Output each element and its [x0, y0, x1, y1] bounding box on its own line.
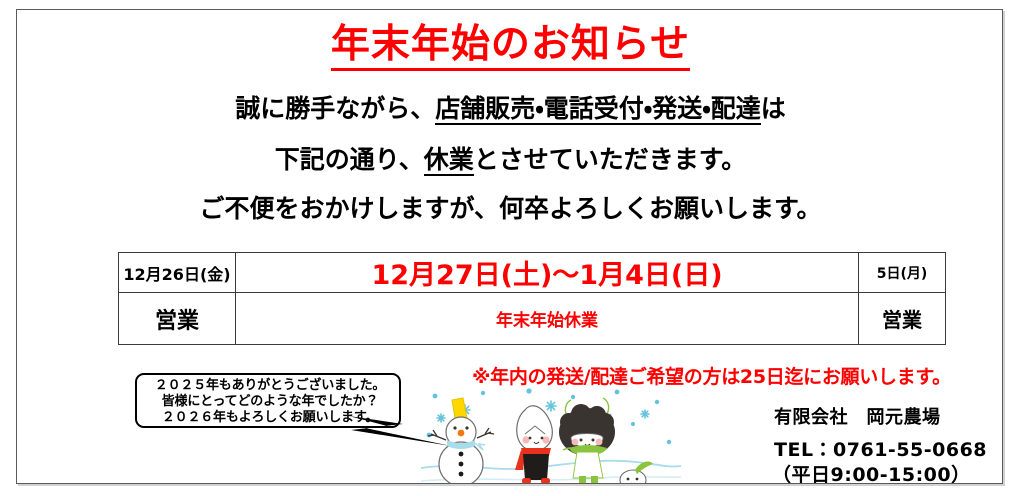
cell-status-after-text: 営業	[882, 308, 922, 332]
cell-date-after: 5日(月)	[859, 253, 946, 293]
notice-line2-underlined: 休業	[424, 145, 474, 176]
cell-status-before: 営業	[119, 293, 236, 345]
shipping-deadline-note: ※年内の発送/配達ご希望の方は25日迄にお願いします。	[472, 362, 951, 389]
cell-date-before: 12月26日(金)	[119, 253, 236, 293]
page-title-text: 年末年始のお知らせ	[331, 22, 690, 71]
notice-body-line-2: 下記の通り、休業とさせていただきます。	[17, 140, 1003, 176]
cell-status-after: 営業	[859, 293, 946, 345]
cell-status-before-text: 営業	[155, 309, 199, 334]
turnip-character-icon	[620, 462, 653, 484]
cell-date-before-text: 12月26日(金)	[123, 265, 230, 284]
notice-line3-pre: ご不便をおかけしますが、何卒よろしくお願いします。	[199, 194, 821, 223]
greeting-line-1: ２０２５年もありがとうございました。	[143, 378, 397, 394]
cell-status-holiday-text: 年末年始休業	[496, 311, 598, 331]
notice-line1-pre: 誠に勝手ながら、	[235, 94, 435, 123]
girl-broccoli-icon	[559, 398, 615, 484]
company-hours: （平日9:00-15:00）	[772, 460, 971, 484]
page-title: 年末年始のお知らせ	[17, 23, 1003, 68]
notice-line1-underlined: 店舗販売・電話受付・発送・配達	[435, 94, 761, 125]
notice-line2-pre: 下記の通り、	[275, 145, 424, 174]
notice-line2-post: とさせていただきます。	[474, 145, 747, 174]
cell-date-holiday: 12月27日(土)〜1月4日(日)	[236, 253, 859, 293]
snowman-icon	[428, 398, 494, 484]
table-row-status: 営業 年末年始休業 営業	[119, 293, 946, 345]
notice-page: 年末年始のお知らせ 誠に勝手ながら、店舗販売・電話受付・発送・配達は 下記の通り…	[16, 9, 1003, 484]
greeting-line-2: 皆様にとってどのような年でしたか？	[143, 394, 397, 410]
company-tel: TEL：0761-55-0668	[774, 435, 987, 462]
notice-body-line-1: 誠に勝手ながら、店舗販売・電話受付・発送・配達は	[17, 89, 1003, 125]
cell-status-holiday: 年末年始休業	[236, 293, 859, 345]
table-row-dates: 12月26日(金) 12月27日(土)〜1月4日(日) 5日(月)	[119, 253, 946, 293]
company-name: 有限会社 岡元農場	[774, 403, 941, 429]
child-hood-icon	[515, 406, 552, 484]
notice-body-line-3: ご不便をおかけしますが、何卒よろしくお願いします。	[17, 189, 1003, 225]
cell-date-after-text: 5日(月)	[877, 266, 928, 282]
notice-line1-post: は	[761, 94, 786, 123]
winter-illustration	[421, 388, 681, 484]
schedule-table: 12月26日(金) 12月27日(土)〜1月4日(日) 5日(月) 営業 年末年…	[118, 252, 946, 345]
cell-date-holiday-text: 12月27日(土)〜1月4日(日)	[371, 260, 722, 291]
